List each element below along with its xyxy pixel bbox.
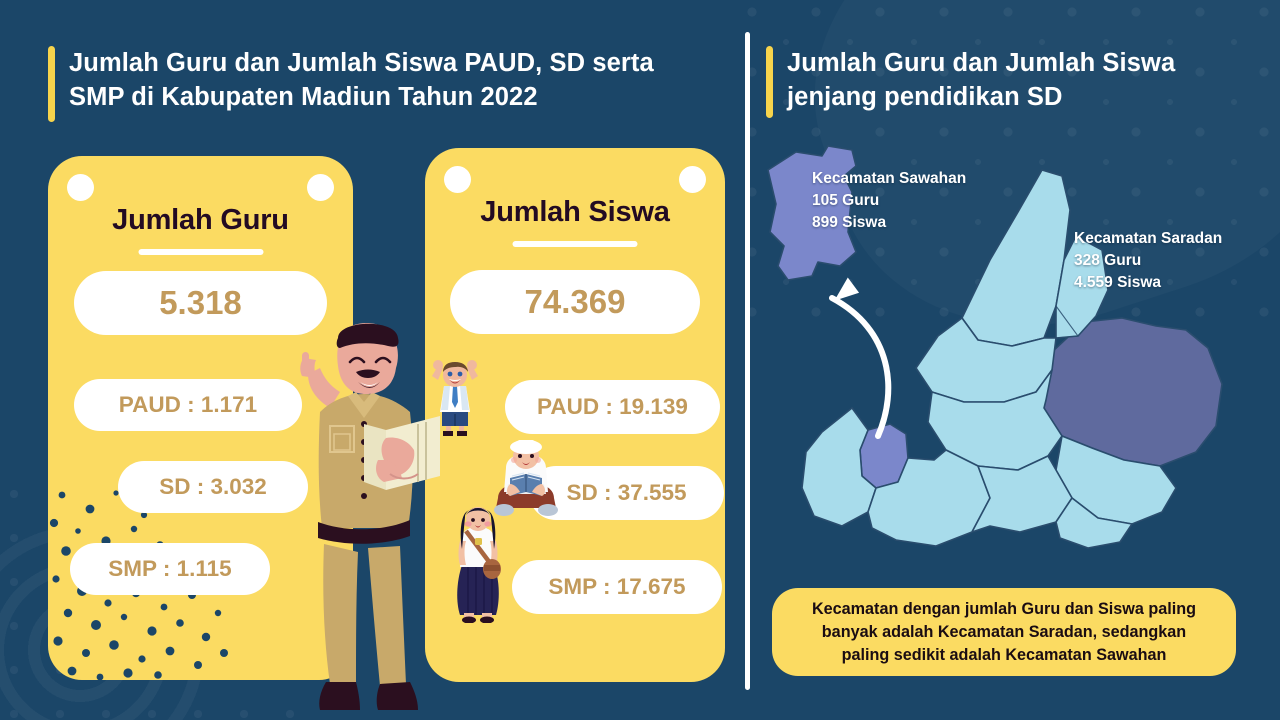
title-accent-bar bbox=[766, 46, 773, 118]
map-arrow-icon bbox=[829, 276, 889, 436]
card-guru-title: Jumlah Guru bbox=[48, 204, 353, 237]
card-hole-left-icon bbox=[444, 166, 471, 193]
card-guru-row-smp-label: SMP : 1.115 bbox=[108, 556, 231, 582]
card-siswa-underline bbox=[513, 241, 638, 247]
card-siswa-total-pill: 74.369 bbox=[450, 270, 700, 334]
card-siswa-total-value: 74.369 bbox=[525, 283, 626, 321]
student-paud-illustration bbox=[424, 358, 486, 436]
summary-note-box: Kecamatan dengan jumlah Guru dan Siswa p… bbox=[772, 588, 1236, 676]
card-guru-total-value: 5.318 bbox=[159, 284, 242, 322]
card-hole-right-icon bbox=[679, 166, 706, 193]
card-siswa-row-sd-label: SD : 37.555 bbox=[566, 480, 686, 506]
card-guru-row-paud-label: PAUD : 1.171 bbox=[119, 392, 257, 418]
card-hole-left-icon bbox=[67, 174, 94, 201]
infographic-canvas: Jumlah Guru dan Jumlah Siswa PAUD, SD se… bbox=[0, 0, 1280, 720]
left-panel-title-text: Jumlah Guru dan Jumlah Siswa PAUD, SD se… bbox=[69, 46, 654, 114]
card-siswa-title: Jumlah Siswa bbox=[425, 196, 725, 229]
map-kabupaten-madiun: Kecamatan Sawahan 105 Guru 899 Siswa Kec… bbox=[756, 140, 1266, 570]
card-siswa-row-paud-label: PAUD : 19.139 bbox=[537, 394, 688, 420]
card-guru-row-sd-label: SD : 3.032 bbox=[159, 474, 267, 500]
student-smp-illustration bbox=[448, 505, 508, 623]
card-siswa-row-smp: SMP : 17.675 bbox=[512, 560, 722, 614]
title-accent-bar bbox=[48, 46, 55, 122]
card-siswa-row-paud: PAUD : 19.139 bbox=[505, 380, 720, 434]
card-siswa-row-smp-label: SMP : 17.675 bbox=[548, 574, 685, 600]
card-guru-underline bbox=[138, 249, 263, 255]
summary-note-text: Kecamatan dengan jumlah Guru dan Siswa p… bbox=[796, 598, 1212, 667]
card-guru-row-smp: SMP : 1.115 bbox=[70, 543, 270, 595]
panel-divider bbox=[745, 32, 750, 690]
left-panel-title: Jumlah Guru dan Jumlah Siswa PAUD, SD se… bbox=[48, 46, 708, 122]
right-panel-title-text: Jumlah Guru dan Jumlah Siswa jenjang pen… bbox=[787, 46, 1175, 114]
map-district-north bbox=[962, 170, 1070, 346]
card-hole-right-icon bbox=[307, 174, 334, 201]
map-label-sawahan: Kecamatan Sawahan 105 Guru 899 Siswa bbox=[812, 168, 966, 234]
map-label-saradan: Kecamatan Saradan 328 Guru 4.559 Siswa bbox=[1074, 228, 1222, 294]
right-panel-title: Jumlah Guru dan Jumlah Siswa jenjang pen… bbox=[766, 46, 1236, 118]
